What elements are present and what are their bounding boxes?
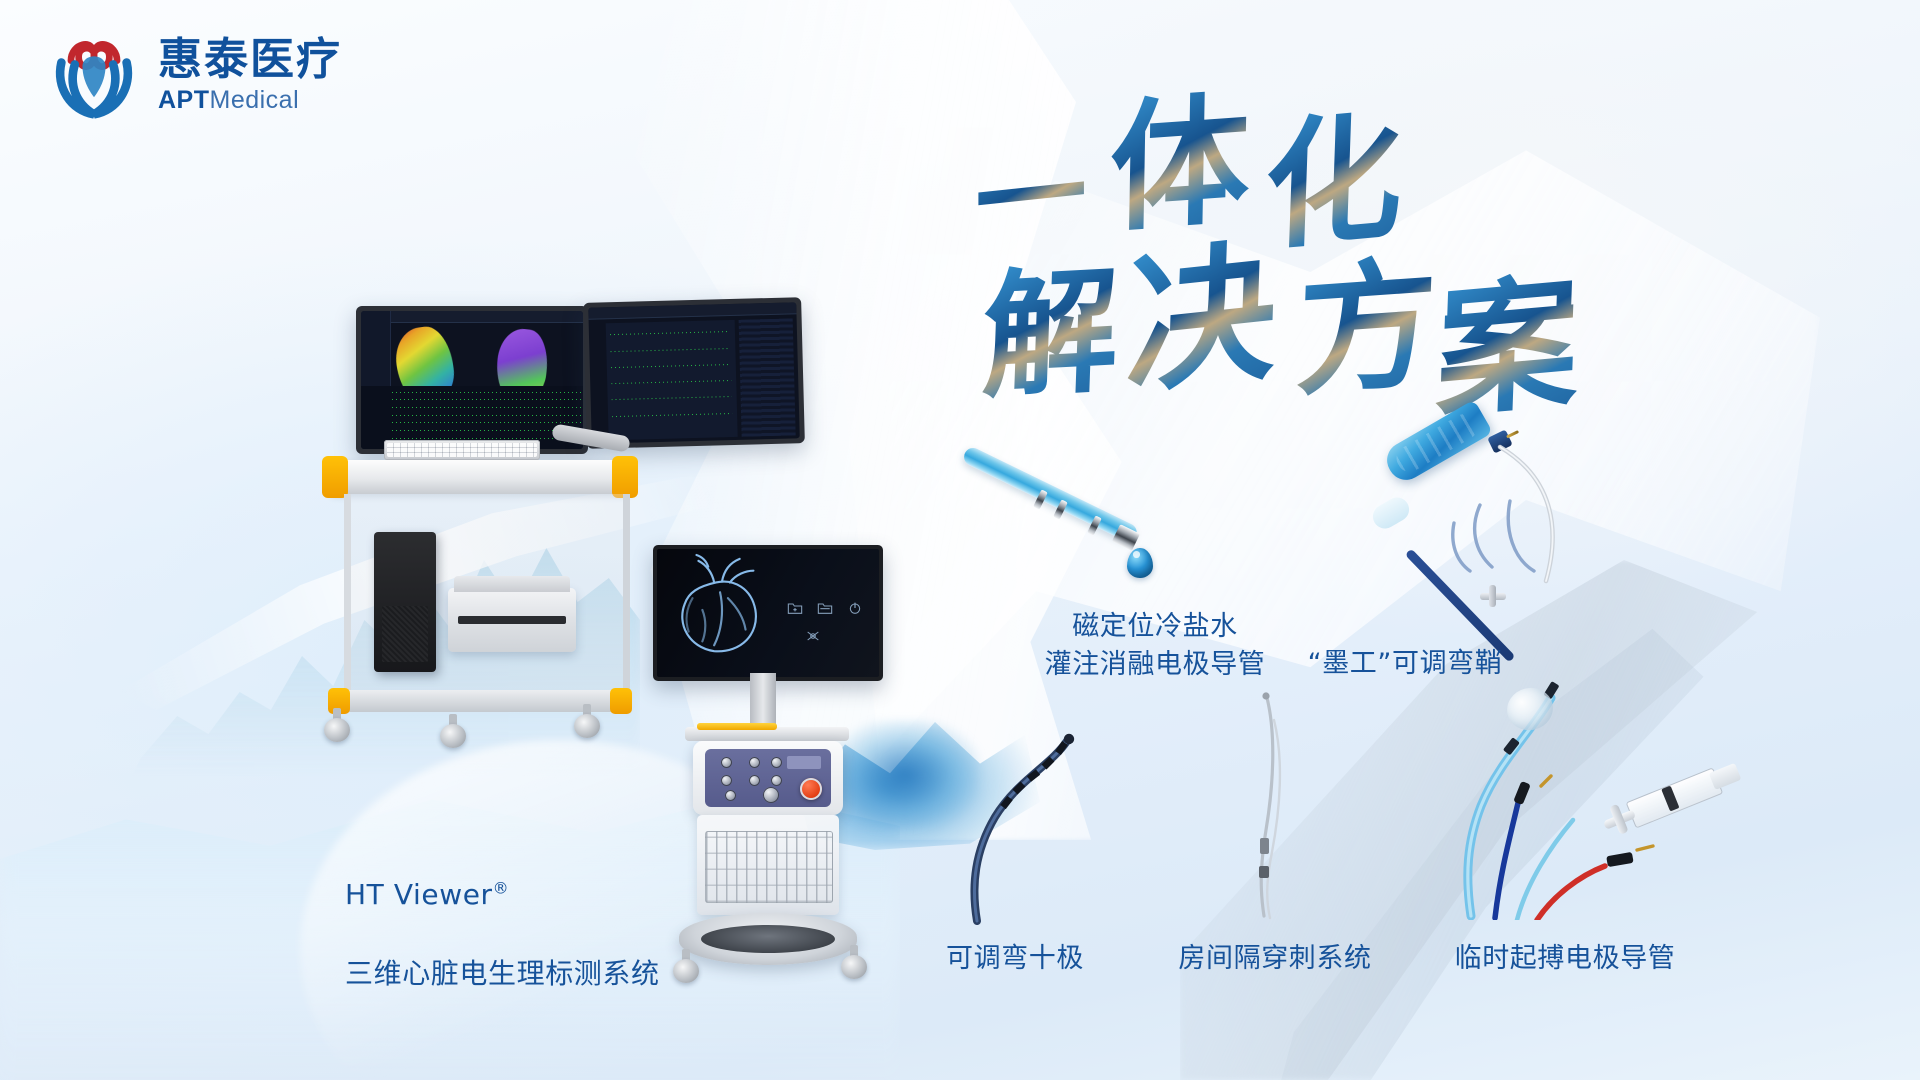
cart-caster	[440, 714, 466, 748]
brand-name-cn: 惠泰医疗	[158, 37, 342, 83]
recording-monitor-right-screen	[588, 302, 799, 443]
brand-logo: 惠泰医疗 APTMedical	[46, 28, 342, 124]
product-label-pacing-catheter: 临时起搏电极导管	[1440, 940, 1690, 978]
rf-generator-unit	[693, 741, 843, 815]
cart-shelf	[685, 727, 849, 741]
ht-viewer-trademark: ®	[493, 878, 510, 897]
hemostasis-valve	[1476, 585, 1506, 607]
cart-bumper-right	[612, 456, 638, 498]
headline-char-5: 决	[1124, 189, 1281, 424]
headline-char-4: 解	[980, 220, 1123, 425]
cart-chassis	[330, 460, 630, 720]
cart-caster	[574, 704, 600, 738]
irrigation-port[interactable]	[763, 787, 779, 803]
monitor-toolbar	[361, 311, 583, 323]
wire-basket	[705, 831, 833, 903]
printer-paper-tray	[454, 576, 570, 592]
catheter-shaft	[961, 445, 1140, 544]
brand-name-en-rest: Medical	[210, 86, 300, 114]
workstation-keyboard[interactable]	[384, 440, 540, 460]
monitor-icon-row	[787, 601, 863, 620]
syringe-plunger	[1709, 763, 1742, 790]
connector-port[interactable]	[721, 775, 732, 786]
headline-calligraphy: 一 体 化 解 决 方 案	[975, 48, 1635, 368]
recording-toolbar	[588, 302, 796, 319]
brand-name-en: APTMedical	[158, 86, 342, 115]
shelf-yellow-bar	[697, 723, 777, 730]
transseptal-needle-assembly	[1230, 690, 1310, 920]
cart-bumper-left	[322, 456, 348, 498]
heart-display-screen	[657, 549, 879, 677]
steerable-sheath-visual	[1390, 435, 1670, 625]
product-label-decapolar: 可调弯十极	[900, 940, 1130, 978]
connector-port[interactable]	[749, 757, 760, 768]
status-display	[787, 756, 821, 769]
apt-medical-heart-logo-icon	[46, 28, 142, 124]
irrigated-ablation-catheter-visual	[975, 440, 1185, 590]
cart-caster	[673, 949, 699, 983]
poster-canvas: 惠泰医疗 APTMedical 一 体 化 解 决 方 案	[0, 0, 1920, 1080]
cart-round-base	[679, 913, 857, 965]
connector-port[interactable]	[771, 757, 782, 768]
cart-caster	[841, 945, 867, 979]
rf-generator-panel	[705, 749, 831, 807]
open-folder-icon[interactable]	[817, 601, 833, 620]
saline-droplet	[1127, 548, 1153, 578]
brand-name-en-bold: APT	[158, 86, 210, 114]
ground-port[interactable]	[725, 790, 736, 801]
cart-storage-frame	[697, 815, 839, 915]
ht-viewer-name-cn: 三维心脏电生理标测系统	[345, 954, 660, 994]
connector-port[interactable]	[721, 757, 732, 768]
product-label-ablation-catheter: 磁定位冷盐水 灌注消融电极导管	[1010, 608, 1300, 685]
new-case-folder-icon[interactable]	[787, 601, 803, 620]
decapolar-catheter-visual	[955, 725, 1085, 925]
base-bumper-right	[610, 688, 632, 714]
product-label-transseptal: 房间隔穿刺系统	[1150, 940, 1400, 978]
decapolar-catheter-body	[955, 725, 1085, 925]
connector-port[interactable]	[771, 775, 782, 786]
power-icon[interactable]	[847, 601, 863, 620]
settings-icon[interactable]	[805, 629, 821, 648]
heart-display-cart	[645, 545, 905, 1045]
transseptal-puncture-visual	[1230, 690, 1310, 920]
mapping-monitor-left-screen	[361, 311, 583, 449]
cart-caster	[324, 708, 350, 742]
recording-monitor-right	[583, 297, 805, 449]
connector-port[interactable]	[749, 775, 760, 786]
report-printer	[448, 588, 576, 652]
printer-output-slot	[458, 616, 566, 624]
headline-char-6: 方	[1294, 211, 1441, 424]
heart-display-monitor	[653, 545, 883, 681]
heart-illustration-icon	[663, 553, 781, 661]
temporary-pacing-catheter-visual	[1455, 670, 1755, 920]
product-label-ht-viewer: HT Viewer® 三维心脏电生理标测系统	[345, 835, 660, 1034]
emergency-stop-button[interactable]	[800, 778, 822, 800]
cart-worktop	[330, 460, 630, 494]
workstation-pc-tower	[374, 532, 436, 672]
ht-viewer-name-en: HT Viewer	[345, 878, 493, 911]
